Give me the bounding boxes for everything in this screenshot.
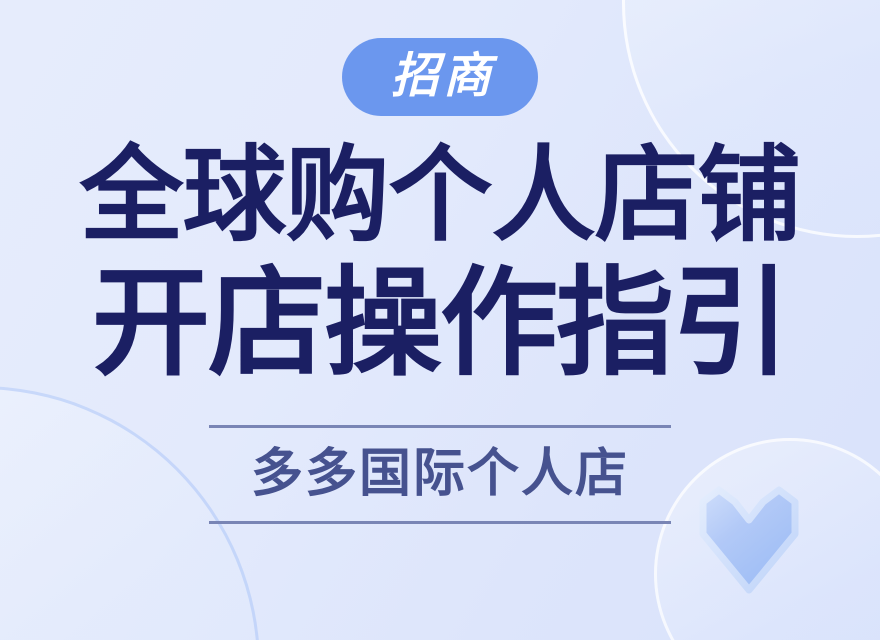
- category-badge: 招商: [342, 38, 538, 116]
- page-title: 全球购个人店铺 开店操作指引: [79, 138, 800, 391]
- page-title-line-1: 全球购个人店铺: [79, 138, 800, 254]
- subtitle-text: 多多国际个人店: [251, 428, 629, 521]
- subtitle-block: 多多国际个人店: [209, 425, 671, 524]
- page-title-line-2: 开店操作指引: [92, 258, 788, 390]
- promo-poster: 招商 全球购个人店铺 开店操作指引 多多国际个人店: [0, 0, 880, 640]
- category-badge-label: 招商: [385, 53, 495, 101]
- poster-content: 招商 全球购个人店铺 开店操作指引 多多国际个人店: [0, 0, 880, 640]
- subtitle-rule-bottom: [209, 521, 671, 524]
